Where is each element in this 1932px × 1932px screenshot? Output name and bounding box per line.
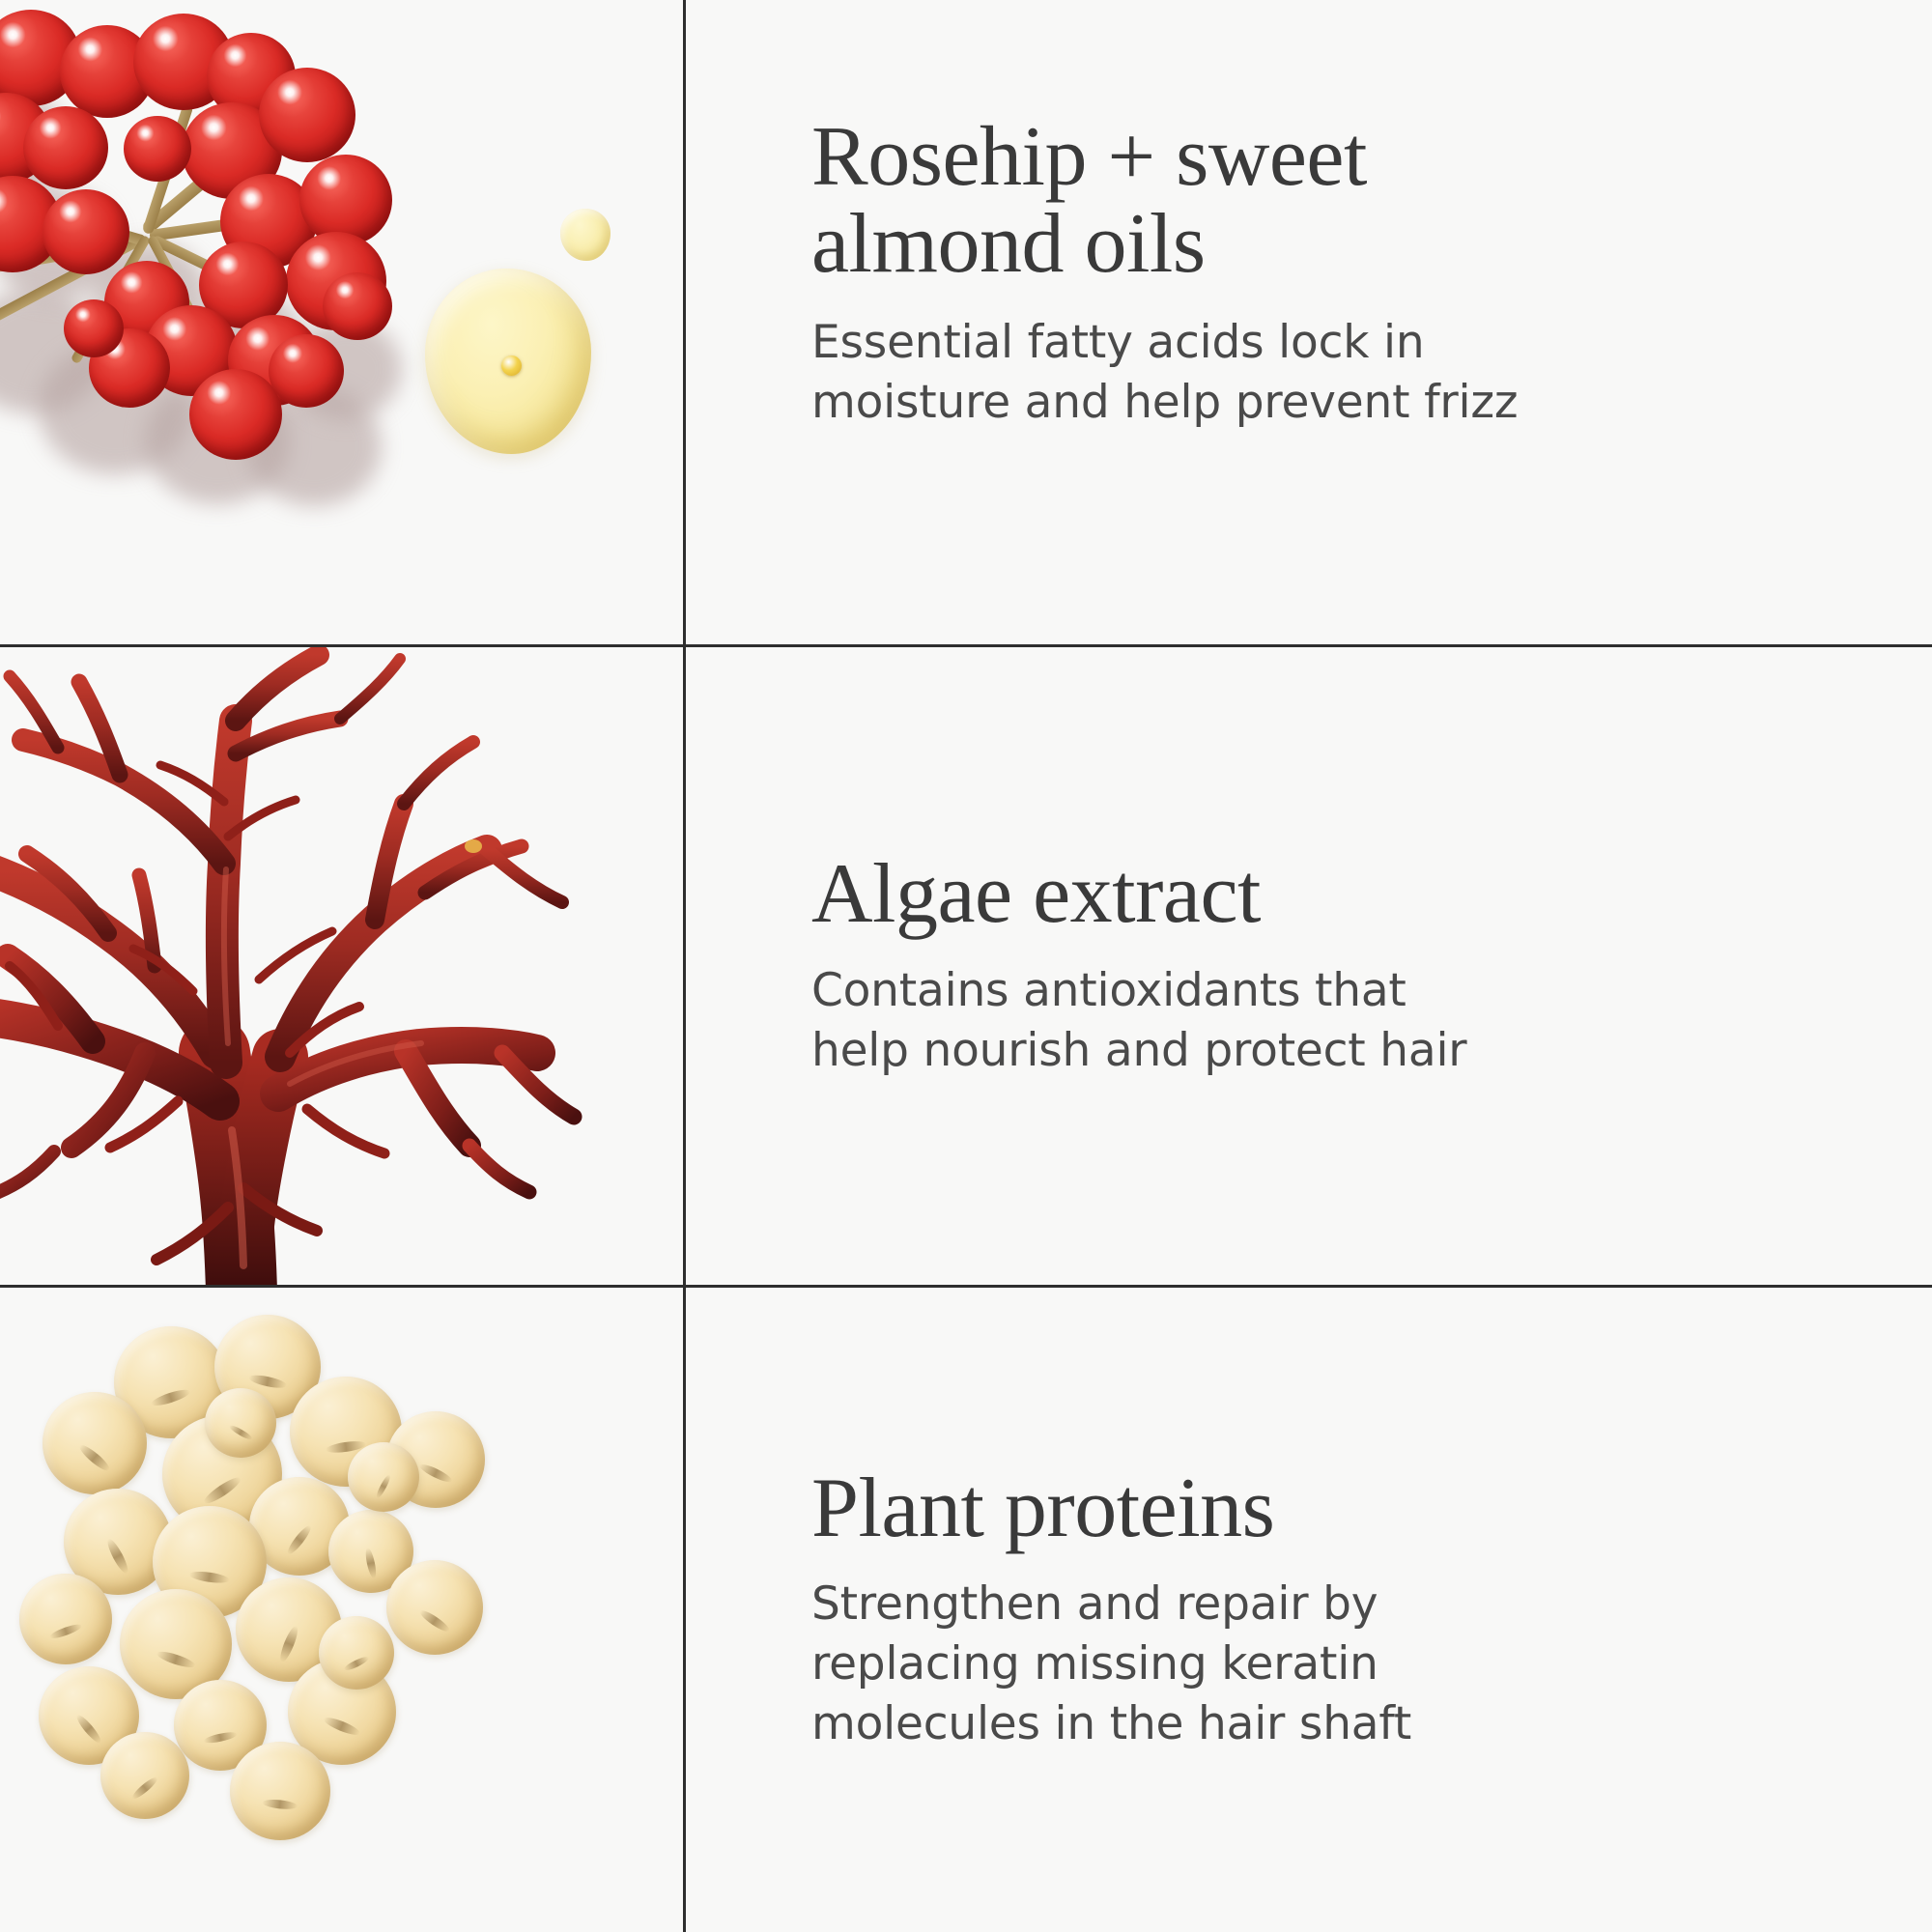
panel-2-heading-line-1: Algae extract [811,847,1261,941]
panel-3-body-line-1: Strengthen and repair by [811,1575,1584,1634]
panel-1-body-line-1: Essential fatty acids lock in [811,313,1584,373]
panel-1-body-line-2: moisture and help prevent frizz [811,373,1584,433]
oil-droplet-large [425,269,591,454]
panel-plant-proteins: Plant proteins Strengthen and repair by … [0,1288,1932,1932]
red-algae-photo [0,647,683,1285]
panel-3-body-line-3: molecules in the hair shaft [811,1694,1584,1754]
panel-3-copy: Plant proteins Strengthen and repair by … [686,1288,1932,1932]
rosehip-berries-photo [0,0,683,644]
oil-droplet-small [560,209,611,261]
panel-3-heading-line-1: Plant proteins [811,1462,1274,1555]
panel-2-body-line-1: Contains antioxidants that [811,961,1584,1021]
algae-illustration [0,647,686,1285]
panel-3-body-line-2: replacing missing keratin [811,1634,1584,1694]
panel-2-body: Contains antioxidants that help nourish … [811,961,1584,1081]
panel-1-heading-line-1: Rosehip + sweet [811,110,1367,204]
panel-algae-extract: Algae extract Contains antioxidants that… [0,644,1932,1288]
panel-3-heading: Plant proteins [811,1465,1584,1552]
panel-rosehip-sweet-almond-oils: Rosehip + sweet almond oils Essential fa… [0,0,1932,644]
panel-1-heading-line-2: almond oils [811,197,1206,291]
panel-3-body: Strengthen and repair by replacing missi… [811,1575,1584,1754]
ingredients-infographic: Rosehip + sweet almond oils Essential fa… [0,0,1932,1932]
panel-1-image [0,0,686,644]
panel-2-heading: Algae extract [811,851,1584,938]
panel-1-heading: Rosehip + sweet almond oils [811,114,1584,288]
panel-2-image [0,647,686,1285]
panel-2-copy: Algae extract Contains antioxidants that… [686,647,1932,1285]
panel-1-copy: Rosehip + sweet almond oils Essential fa… [686,0,1932,644]
soybeans-photo [0,1288,683,1932]
panel-3-image [0,1288,686,1932]
panel-1-body: Essential fatty acids lock in moisture a… [811,313,1584,433]
panel-2-body-line-2: help nourish and protect hair [811,1021,1584,1081]
